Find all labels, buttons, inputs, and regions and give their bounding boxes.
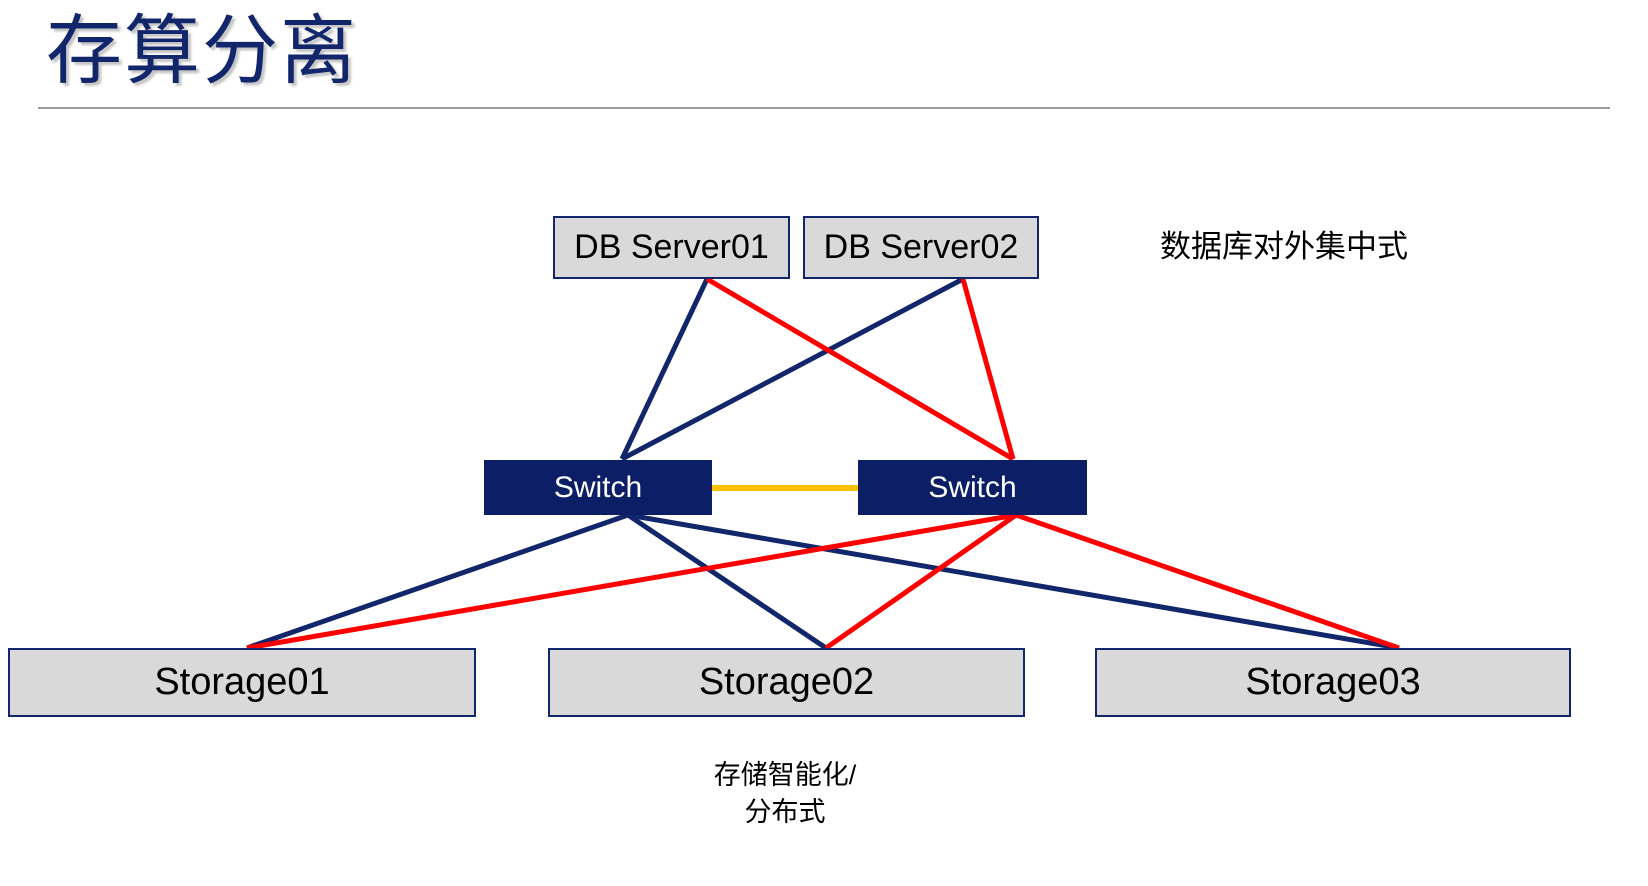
node-storage-03[interactable]: Storage03 xyxy=(1095,648,1571,717)
link-db02-switch01 xyxy=(622,279,963,459)
node-db-server-02[interactable]: DB Server02 xyxy=(803,216,1039,279)
node-label: Switch xyxy=(928,471,1016,505)
node-storage-01[interactable]: Storage01 xyxy=(8,648,476,717)
node-label: Storage03 xyxy=(1245,661,1420,704)
node-storage-02[interactable]: Storage02 xyxy=(548,648,1025,717)
db-tier-annotation: 数据库对外集中式 xyxy=(1160,226,1408,268)
node-switch-01[interactable]: Switch xyxy=(484,460,712,515)
node-label: Switch xyxy=(554,471,642,505)
link-switch02-storage03 xyxy=(1016,515,1399,648)
page-title: 存算分离 xyxy=(46,4,358,100)
link-db01-switch01 xyxy=(622,279,707,459)
node-label: DB Server01 xyxy=(574,228,769,267)
connection-lines xyxy=(0,0,1648,886)
link-switch01-storage03 xyxy=(628,515,1399,648)
slide-canvas: 存算分离 DB Server01 DB Server02 数据库对外集中式 Sw… xyxy=(0,0,1648,886)
link-switch02-storage01 xyxy=(247,515,1016,648)
link-switch02-storage02 xyxy=(826,515,1016,648)
node-db-server-01[interactable]: DB Server01 xyxy=(553,216,790,279)
node-switch-02[interactable]: Switch xyxy=(858,460,1087,515)
link-db01-switch02 xyxy=(707,279,1013,459)
node-label: Storage02 xyxy=(699,661,874,704)
node-label: Storage01 xyxy=(154,661,329,704)
title-divider xyxy=(38,107,1610,109)
link-switch01-storage02 xyxy=(628,515,826,648)
storage-tier-annotation: 存储智能化/ 分布式 xyxy=(645,757,925,831)
node-label: DB Server02 xyxy=(824,228,1019,267)
link-db02-switch02 xyxy=(963,279,1013,459)
link-switch01-storage01 xyxy=(247,515,628,648)
